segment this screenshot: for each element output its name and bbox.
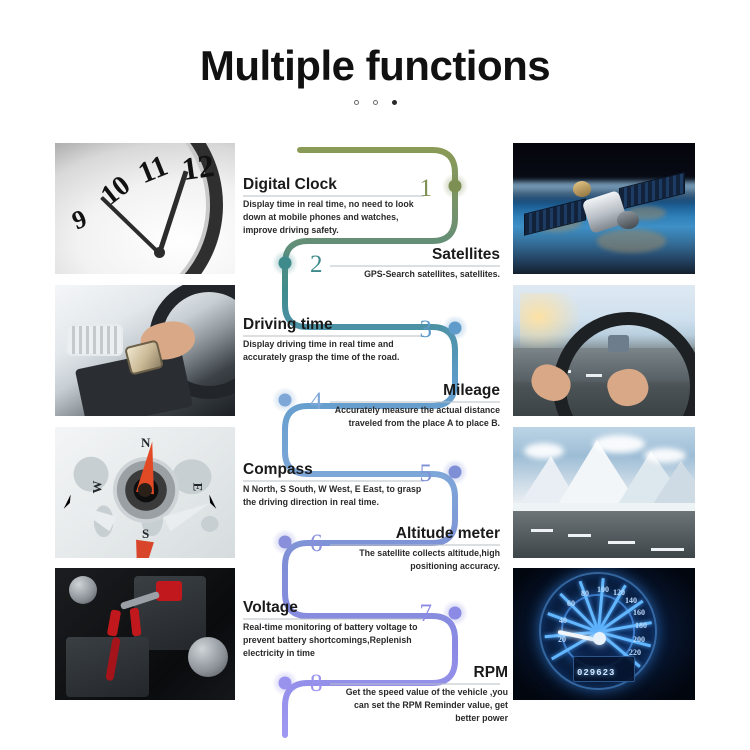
photo-satellite <box>513 143 695 274</box>
feature-block-driving-time: Driving time Display driving time in rea… <box>243 316 425 364</box>
satellite-solar-panel-right <box>619 172 685 211</box>
node-marker-4 <box>272 387 298 413</box>
feature-title-digital-clock: Digital Clock <box>243 176 425 193</box>
photo-compass: N W E S <box>55 427 235 558</box>
step-number-2: 2 <box>310 251 323 278</box>
gauge-label-40: 40 <box>559 616 567 625</box>
feature-title-rpm: RPM <box>330 664 508 681</box>
multiple-functions-infographic: Multiple functions <box>0 0 750 750</box>
feature-description-voltage: Real-time monitoring of battery voltage … <box>243 621 425 661</box>
gauge-label-80: 80 <box>581 589 589 598</box>
node-marker-2 <box>272 250 298 276</box>
satellite-module <box>617 211 639 229</box>
feature-description-compass: N North, S South, W West, E East, to gra… <box>243 483 425 509</box>
photo-altitude-meter <box>513 427 695 558</box>
pager-dot-2[interactable] <box>373 100 378 105</box>
gauge-label-100: 100 <box>597 585 609 594</box>
step-number-8: 8 <box>310 670 323 697</box>
feature-description-altitude-meter: The satellite collects altitude,high pos… <box>330 547 500 573</box>
node-marker-6 <box>272 529 298 555</box>
gauge-label-60: 60 <box>567 599 575 608</box>
node-marker-3 <box>442 315 468 341</box>
compass-label-east: E <box>189 483 205 492</box>
battery-clamp <box>156 581 182 601</box>
node-marker-7 <box>442 600 468 626</box>
feature-block-voltage: Voltage Real-time monitoring of battery … <box>243 599 425 661</box>
compass-label-west: W <box>90 481 106 494</box>
photo-rpm: 20 40 60 80 100 120 140 160 180 200 220 … <box>513 568 695 700</box>
feature-description-digital-clock: Display time in real time, no need to lo… <box>243 198 425 238</box>
feature-block-compass: Compass N North, S South, W West, E East… <box>243 461 425 509</box>
clock-center-cap <box>154 247 165 258</box>
gauge-label-180: 180 <box>635 621 647 630</box>
node-marker-5 <box>442 459 468 485</box>
gauge-label-160: 160 <box>633 608 645 617</box>
compass-pivot <box>138 483 152 497</box>
step-number-4: 4 <box>310 388 323 415</box>
feature-title-driving-time: Driving time <box>243 316 425 333</box>
gauge-label-200: 200 <box>633 635 645 644</box>
pager-dot-3[interactable] <box>392 100 397 105</box>
feature-description-mileage: Accurately measure the actual distance t… <box>330 404 500 430</box>
node-marker-1 <box>442 173 468 199</box>
feature-title-altitude-meter: Altitude meter <box>330 525 500 542</box>
compass-label-south: S <box>142 526 149 542</box>
photo-driving-time <box>55 285 235 416</box>
gauge-label-20: 20 <box>558 635 566 644</box>
car-air-vent <box>66 324 124 355</box>
feature-description-satellites: GPS-Search satellites, satellites. <box>330 268 500 281</box>
odometer-value: 029623 <box>577 668 615 678</box>
node-marker-8 <box>272 670 298 696</box>
feature-description-rpm: Get the speed value of the vehicle ,you … <box>330 686 508 726</box>
photo-digital-clock: 9 10 11 12 <box>55 143 235 274</box>
feature-title-compass: Compass <box>243 461 425 478</box>
satellite-dish <box>573 181 591 197</box>
gauge-label-120: 120 <box>613 588 625 597</box>
photo-mileage <box>513 285 695 416</box>
compass-label-north: N <box>141 435 150 451</box>
feature-description-driving-time: Display driving time in real time and ac… <box>243 338 425 364</box>
feature-block-digital-clock: Digital Clock Display time in real time,… <box>243 176 425 238</box>
pager-dot-1[interactable] <box>354 100 359 105</box>
feature-title-mileage: Mileage <box>330 382 500 399</box>
feature-title-satellites: Satellites <box>330 246 500 263</box>
feature-block-mileage: Mileage Accurately measure the actual di… <box>330 382 500 430</box>
page-title: Multiple functions <box>0 44 750 88</box>
carousel-pager[interactable] <box>0 100 750 105</box>
feature-block-rpm: RPM Get the speed value of the vehicle ,… <box>330 664 508 726</box>
feature-block-altitude-meter: Altitude meter The satellite collects al… <box>330 525 500 573</box>
feature-block-satellites: Satellites GPS-Search satellites, satell… <box>330 246 500 281</box>
feature-title-voltage: Voltage <box>243 599 425 616</box>
step-number-6: 6 <box>310 530 323 557</box>
photo-voltage <box>55 568 235 700</box>
gauge-hub <box>593 632 606 645</box>
gauge-label-140: 140 <box>625 596 637 605</box>
